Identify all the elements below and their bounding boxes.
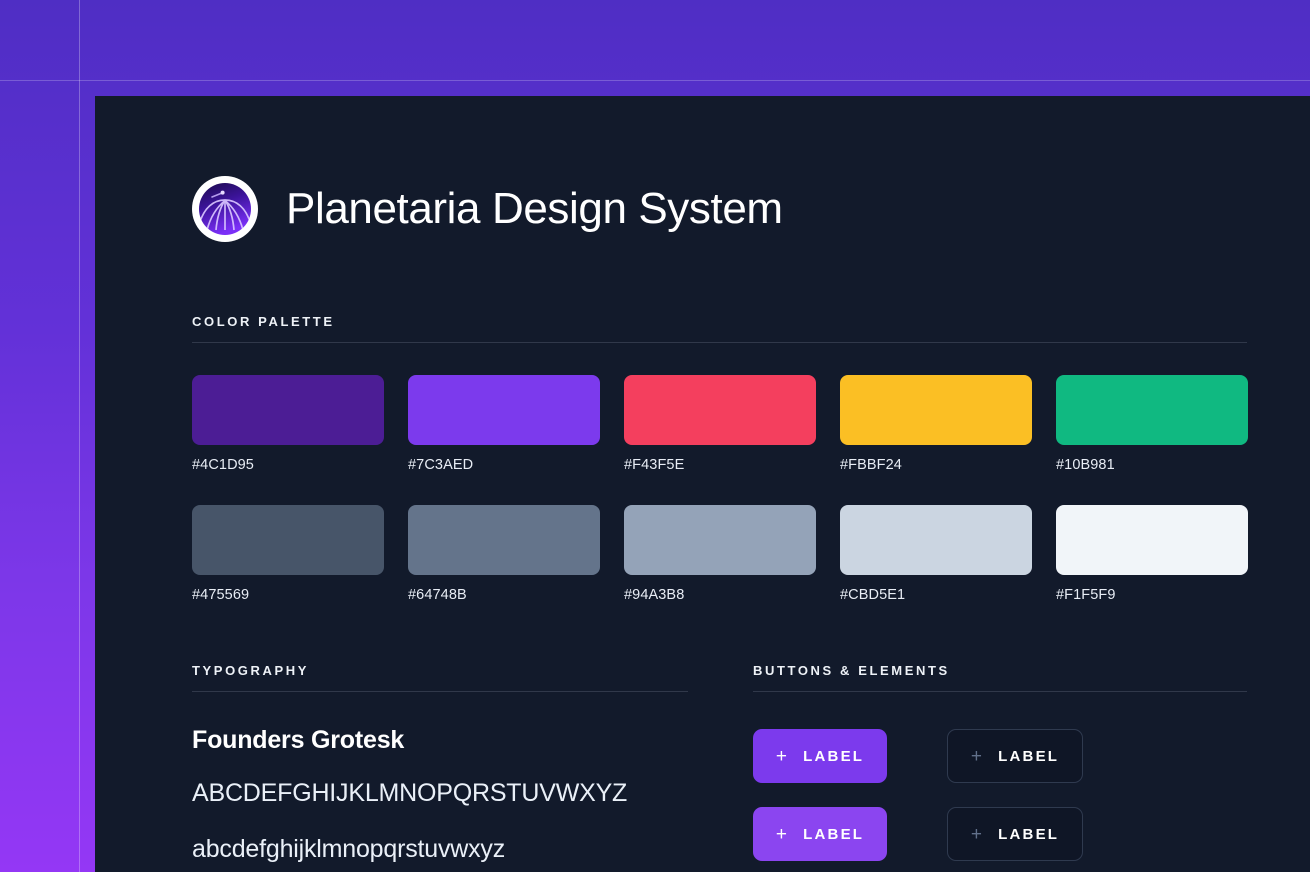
layout-guide-vertical: [79, 0, 80, 872]
plus-icon: +: [971, 747, 984, 766]
swatch-item: #F43F5E: [624, 375, 816, 473]
brand-header: Planetaria Design System: [192, 176, 1310, 242]
color-palette-heading: COLOR PALETTE: [192, 314, 1247, 329]
label-button-filled[interactable]: +LABEL: [753, 807, 887, 861]
color-swatch[interactable]: [1056, 375, 1248, 445]
specimen-uppercase: ABCDEFGHIJKLMNOPQRSTUVWXYZ: [192, 775, 688, 811]
typography-section: TYPOGRAPHY Founders Grotesk ABCDEFGHIJKL…: [192, 663, 688, 872]
swatch-hex-label: #F43F5E: [624, 457, 816, 473]
planetarium-dome-logo-icon: [196, 180, 254, 238]
swatch-item: #4C1D95: [192, 375, 384, 473]
color-palette-section: COLOR PALETTE #4C1D95#7C3AED#F43F5E#FBBF…: [192, 314, 1247, 603]
button-label: LABEL: [998, 826, 1059, 843]
button-label: LABEL: [998, 748, 1059, 765]
color-swatch[interactable]: [192, 375, 384, 445]
plus-icon: +: [971, 825, 984, 844]
buttons-heading: BUTTONS & ELEMENTS: [753, 663, 1247, 678]
swatch-hex-label: #7C3AED: [408, 457, 600, 473]
swatch-hex-label: #F1F5F9: [1056, 587, 1248, 603]
button-label: LABEL: [803, 826, 864, 843]
label-button-outline[interactable]: +LABEL: [947, 729, 1083, 783]
button-grid: +LABEL+LABEL+LABEL+LABEL+LABEL+LABEL: [753, 729, 1247, 872]
buttons-section: BUTTONS & ELEMENTS +LABEL+LABEL+LABEL+LA…: [753, 663, 1247, 872]
font-family-name: Founders Grotesk: [192, 726, 688, 755]
plus-icon: +: [776, 747, 789, 766]
color-swatch[interactable]: [624, 505, 816, 575]
swatch-item: #94A3B8: [624, 505, 816, 603]
swatch-hex-label: #475569: [192, 587, 384, 603]
label-button-outline[interactable]: +LABEL: [947, 807, 1083, 861]
design-system-card: Planetaria Design System COLOR PALETTE #…: [95, 96, 1310, 872]
specimen-lowercase: abcdefghijklmnopqrstuvwxyz: [192, 831, 688, 867]
color-swatch[interactable]: [624, 375, 816, 445]
swatch-item: #64748B: [408, 505, 600, 603]
swatch-item: #10B981: [1056, 375, 1248, 473]
section-divider: [192, 691, 688, 692]
swatch-item: #7C3AED: [408, 375, 600, 473]
layout-guide-horizontal: [0, 80, 1310, 81]
swatch-hex-label: #4C1D95: [192, 457, 384, 473]
color-swatch[interactable]: [840, 375, 1032, 445]
color-swatch[interactable]: [408, 375, 600, 445]
section-divider: [753, 691, 1247, 692]
swatch-hex-label: #64748B: [408, 587, 600, 603]
swatch-hex-label: #10B981: [1056, 457, 1248, 473]
swatch-hex-label: #94A3B8: [624, 587, 816, 603]
color-swatch[interactable]: [192, 505, 384, 575]
typography-heading: TYPOGRAPHY: [192, 663, 688, 678]
planetaria-logo: [192, 176, 258, 242]
swatch-hex-label: #FBBF24: [840, 457, 1032, 473]
swatch-hex-label: #CBD5E1: [840, 587, 1032, 603]
color-swatch[interactable]: [1056, 505, 1248, 575]
page-title: Planetaria Design System: [286, 187, 783, 231]
color-swatch[interactable]: [408, 505, 600, 575]
plus-icon: +: [776, 825, 789, 844]
swatch-grid: #4C1D95#7C3AED#F43F5E#FBBF24#10B981#4755…: [192, 375, 1247, 603]
swatch-item: #475569: [192, 505, 384, 603]
swatch-item: #FBBF24: [840, 375, 1032, 473]
label-button-filled[interactable]: +LABEL: [753, 729, 887, 783]
color-swatch[interactable]: [840, 505, 1032, 575]
section-divider: [192, 342, 1247, 343]
button-label: LABEL: [803, 748, 864, 765]
swatch-item: #CBD5E1: [840, 505, 1032, 603]
swatch-item: #F1F5F9: [1056, 505, 1248, 603]
